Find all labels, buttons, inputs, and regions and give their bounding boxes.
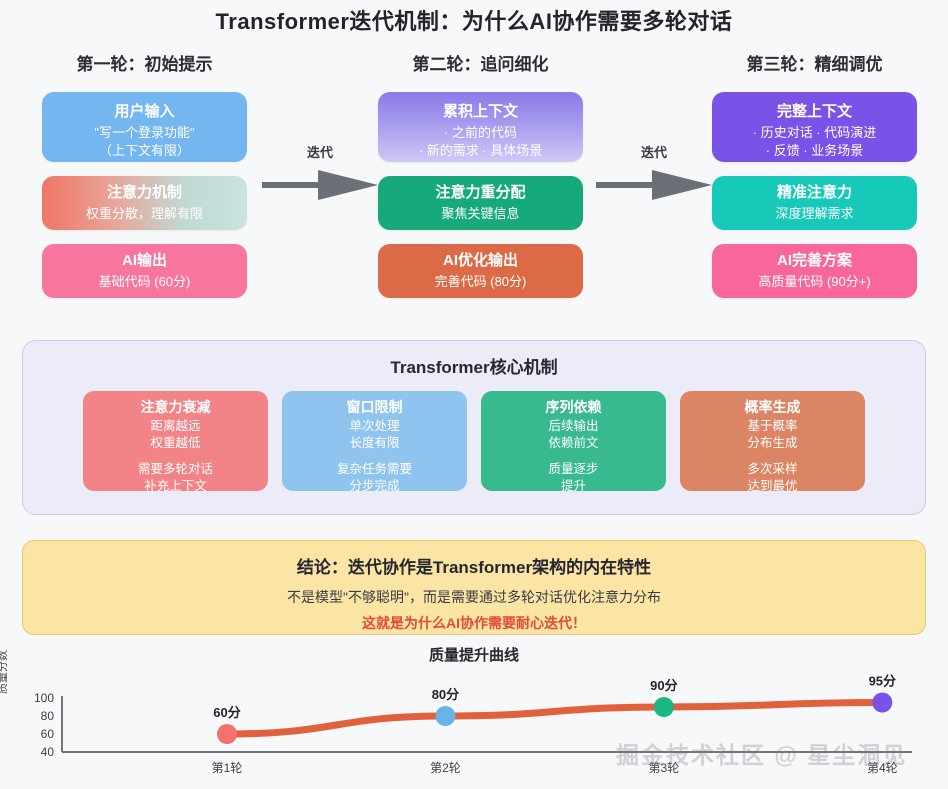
chart-data-point[interactable] [872,693,892,713]
mechanism-line: 质量逐步 [487,461,660,478]
iteration-arrow-2: 迭代 [596,146,712,202]
mechanism-line: 长度有限 [288,435,461,452]
chart-y-tick: 80 [41,709,55,723]
page-title: Transformer迭代机制：为什么AI协作需要多轮对话 [0,4,948,36]
round-header-1: 第一轮：初始提示 [42,50,247,75]
card-attention-mechanism[interactable]: 注意力机制 权重分散，理解有限 [42,176,247,230]
card-title: 完整上下文 [720,102,909,122]
mechanism-card-attention-decay[interactable]: 注意力衰减 距离越远 权重越低 需要多轮对话 补充上下文 [83,391,268,491]
chart-point-label: 95分 [869,674,896,689]
mechanism-title: 序列依赖 [487,398,660,416]
mechanism-line: 多次采样 [686,461,859,478]
card-title: AI优化输出 [386,251,575,271]
round-header-2: 第二轮：追问细化 [378,50,583,75]
card-title: AI输出 [50,251,239,271]
mechanism-line: 单次处理 [288,418,461,435]
card-line: 聚焦关键信息 [386,205,575,223]
card-title: 累积上下文 [386,102,575,122]
conclusion-title: 结论：迭代协作是Transformer架构的内在特性 [23,553,925,578]
mechanism-line: 补充上下文 [89,478,262,495]
core-mechanism-panel: Transformer核心机制 注意力衰减 距离越远 权重越低 需要多轮对话 补… [22,340,926,515]
mechanism-title: 窗口限制 [288,398,461,416]
arrow-label: 迭代 [596,142,712,161]
conclusion-panel: 结论：迭代协作是Transformer架构的内在特性 不是模型"不够聪明"，而是… [22,540,926,635]
mechanism-line: 后续输出 [487,418,660,435]
mechanism-line: 权重越低 [89,435,262,452]
mechanism-card-sequence-dependency[interactable]: 序列依赖 后续输出 依赖前文 质量逐步 提升 [481,391,666,491]
card-ai-complete-solution[interactable]: AI完善方案 高质量代码 (90分+) [712,244,917,298]
core-mechanism-grid: 注意力衰减 距离越远 权重越低 需要多轮对话 补充上下文 窗口限制 单次处理 长… [23,391,925,491]
card-title: 用户输入 [50,102,239,122]
core-mechanism-title: Transformer核心机制 [23,353,925,378]
card-full-context[interactable]: 完整上下文 · 历史对话 · 代码演进 · 反馈 · 业务场景 [712,92,917,162]
card-line: · 之前的代码 [386,124,575,142]
conclusion-highlight: 这就是为什么AI协作需要耐心迭代！ [23,613,925,633]
card-title: 精准注意力 [720,183,909,203]
card-line: （上下文有限） [50,142,239,160]
card-title: 注意力机制 [50,183,239,203]
mechanism-card-probabilistic-generation[interactable]: 概率生成 基于概率 分布生成 多次采样 达到最优 [680,391,865,491]
card-line: · 反馈 · 业务场景 [720,142,909,160]
card-accumulated-context[interactable]: 累积上下文 · 之前的代码 · 新的需求 · 具体场景 [378,92,583,162]
round-column-3: 完整上下文 · 历史对话 · 代码演进 · 反馈 · 业务场景 精准注意力 深度… [712,92,917,312]
card-line: 高质量代码 (90分+) [720,273,909,291]
round-header-3: 第三轮：精细调优 [712,50,917,75]
infographic-page: Transformer迭代机制：为什么AI协作需要多轮对话 第一轮：初始提示 第… [0,0,948,789]
card-user-input[interactable]: 用户输入 "写一个登录功能" （上下文有限） [42,92,247,162]
card-line: "写一个登录功能" [50,124,239,142]
chart-data-point[interactable] [654,697,674,717]
mechanism-line: 提升 [487,478,660,495]
arrow-label: 迭代 [262,142,378,161]
card-line: 基础代码 (60分) [50,273,239,291]
card-title: AI完善方案 [720,251,909,271]
chart-point-label: 60分 [213,705,240,720]
mechanism-line: 分步完成 [288,478,461,495]
card-precise-attention[interactable]: 精准注意力 深度理解需求 [712,176,917,230]
card-line: · 新的需求 · 具体场景 [386,142,575,160]
arrow-right-icon [596,168,712,202]
mechanism-line: 基于概率 [686,418,859,435]
round-column-2: 累积上下文 · 之前的代码 · 新的需求 · 具体场景 注意力重分配 聚焦关键信… [378,92,583,312]
mechanism-title: 注意力衰减 [89,398,262,416]
chart-point-label: 80分 [432,687,459,702]
chart-y-axis-label: 质量分数 [0,650,10,694]
mechanism-line: 需要多轮对话 [89,461,262,478]
mechanism-line: 距离越远 [89,418,262,435]
chart-x-tick: 第1轮 [212,761,243,775]
card-line: 深度理解需求 [720,205,909,223]
card-title: 注意力重分配 [386,183,575,203]
chart-x-tick: 第2轮 [430,761,461,775]
mechanism-line: 分布生成 [686,435,859,452]
iteration-arrow-1: 迭代 [262,146,378,202]
watermark: 掘金技术社区 @ 星尘洞见 [616,736,907,770]
conclusion-subtitle: 不是模型"不够聪明"，而是需要通过多轮对话优化注意力分布 [23,587,925,607]
chart-data-point[interactable] [217,724,237,744]
card-line: 权重分散，理解有限 [50,205,239,223]
card-line: 完善代码 (80分) [386,273,575,291]
chart-data-point[interactable] [435,706,455,726]
chart-y-tick: 60 [41,727,55,741]
mechanism-card-window-limit[interactable]: 窗口限制 单次处理 长度有限 复杂任务需要 分步完成 [282,391,467,491]
chart-y-tick: 100 [34,691,54,705]
chart-y-tick: 40 [41,745,55,759]
mechanism-line: 达到最优 [686,478,859,495]
card-attention-reallocation[interactable]: 注意力重分配 聚焦关键信息 [378,176,583,230]
card-ai-optimized-output[interactable]: AI优化输出 完善代码 (80分) [378,244,583,298]
mechanism-line: 依赖前文 [487,435,660,452]
arrow-right-icon [262,168,378,202]
mechanism-line: 复杂任务需要 [288,461,461,478]
card-line: · 历史对话 · 代码演进 [720,124,909,142]
chart-point-label: 90分 [650,678,677,693]
mechanism-title: 概率生成 [686,398,859,416]
card-ai-output[interactable]: AI输出 基础代码 (60分) [42,244,247,298]
round-column-1: 用户输入 "写一个登录功能" （上下文有限） 注意力机制 权重分散，理解有限 A… [42,92,247,312]
